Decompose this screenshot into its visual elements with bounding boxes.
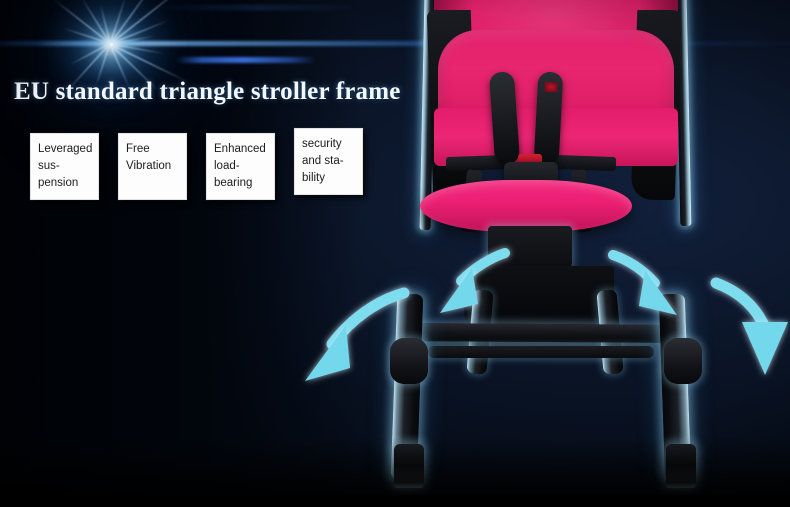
product-feature-banner: EU standard triangle stroller frame Leve… bbox=[0, 0, 790, 507]
vignette-overlay bbox=[0, 0, 790, 507]
bottom-black-bar bbox=[0, 495, 790, 507]
